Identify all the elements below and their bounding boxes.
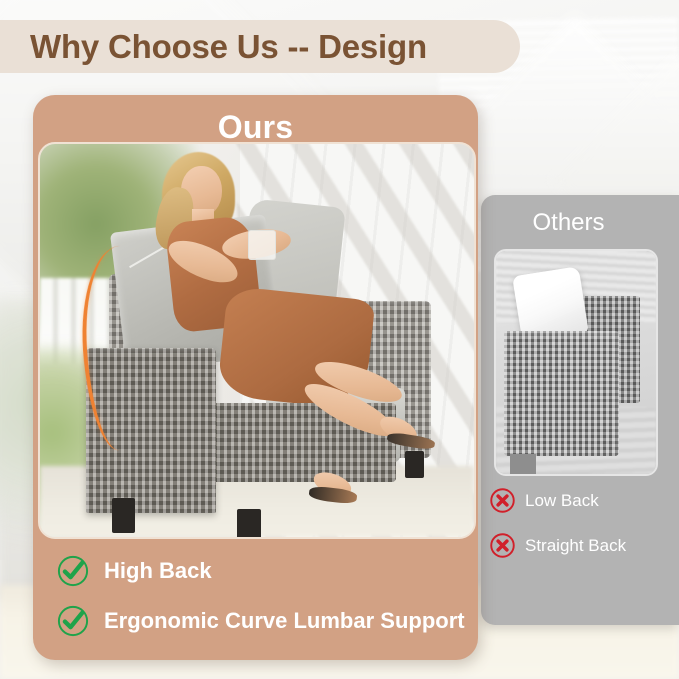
others-panel: Others Low Back Straight Back [481,195,679,625]
others-feature-label: Straight Back [525,536,626,556]
chair-leg-front-right [237,509,261,537]
ours-feature-row: High Back [55,553,212,589]
ours-product-photo [38,142,476,539]
others-sofa-armrest [504,331,619,456]
ours-panel: Ours [33,95,478,660]
others-photo-content [496,251,656,474]
ours-feature-label: Ergonomic Curve Lumbar Support [104,608,465,634]
chair-leg-back-right [405,451,425,479]
others-feature-row: Straight Back [489,532,626,559]
ours-photo-content [40,144,474,537]
page-title: Why Choose Us -- Design [30,20,520,73]
others-panel-title: Others [481,206,656,240]
others-product-photo [494,249,658,476]
ours-feature-row: Ergonomic Curve Lumbar Support [55,603,465,639]
check-circle-icon [55,603,91,639]
drinking-glass [248,230,276,260]
others-feature-label: Low Back [525,491,599,511]
ours-feature-label: High Back [104,558,212,584]
others-feature-row: Low Back [489,487,599,514]
chair-leg-front-left [112,498,136,533]
others-sofa-leg [510,454,536,474]
check-circle-icon [55,553,91,589]
x-circle-icon [489,532,516,559]
x-circle-icon [489,487,516,514]
